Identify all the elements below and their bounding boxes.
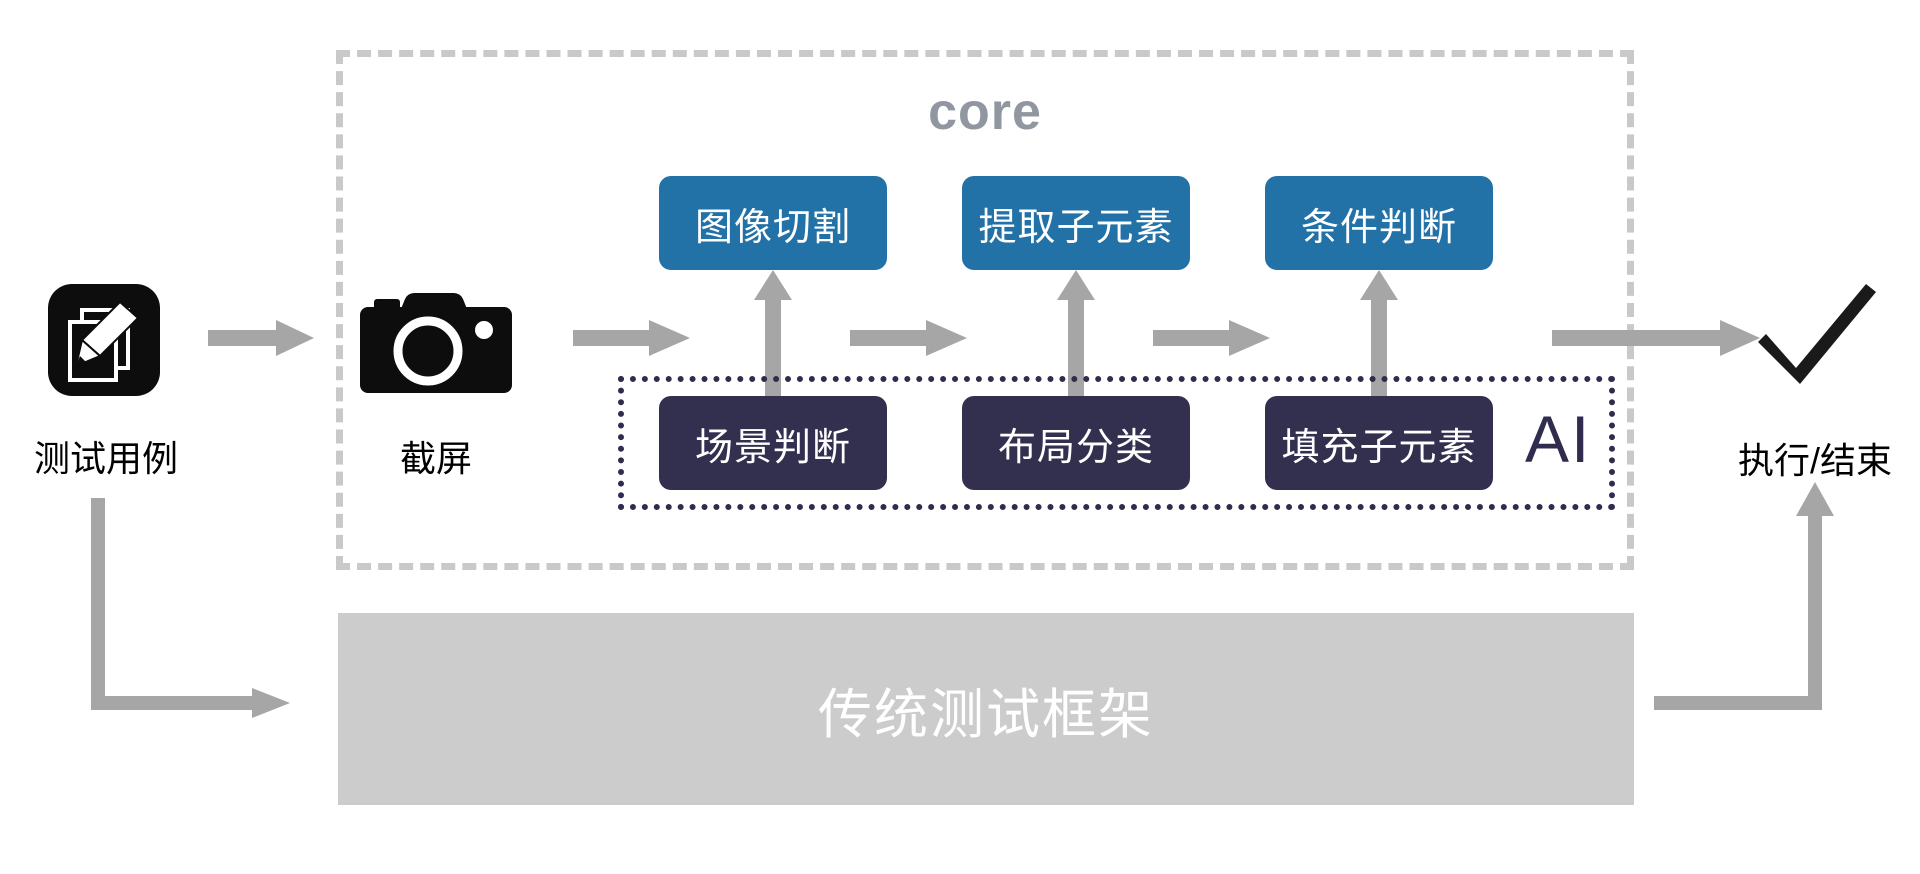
node-label: 条件判断: [1301, 196, 1457, 251]
framework-label: 传统测试框架: [818, 670, 1154, 749]
node-layout-classification[interactable]: 布局分类: [962, 396, 1190, 490]
arrow-framework-to-end: [1654, 482, 1834, 710]
traditional-framework-bar: 传统测试框架: [338, 613, 1634, 805]
document-pencil-icon: [48, 284, 160, 396]
node-label: 布局分类: [998, 416, 1154, 471]
node-image-segmentation[interactable]: 图像切割: [659, 176, 887, 270]
diagram-canvas: core: [0, 0, 1920, 874]
ai-label: AI: [1525, 401, 1591, 477]
node-scene-judgement[interactable]: 场景判断: [659, 396, 887, 490]
label-execute-end: 执行/结束: [1700, 432, 1920, 484]
node-label: 图像切割: [695, 196, 851, 251]
node-label: 提取子元素: [978, 196, 1173, 251]
node-condition-judgement[interactable]: 条件判断: [1265, 176, 1493, 270]
core-title: core: [336, 82, 1634, 142]
arrow-testcase-to-camera: [208, 320, 314, 356]
label-screenshot: 截屏: [330, 430, 542, 482]
label-test-case: 测试用例: [0, 430, 212, 482]
camera-icon: [358, 285, 514, 397]
node-label: 场景判断: [695, 416, 851, 471]
checkmark-icon: [1750, 280, 1882, 392]
node-extract-subelement[interactable]: 提取子元素: [962, 176, 1190, 270]
node-fill-subelement[interactable]: 填充子元素: [1265, 396, 1493, 490]
arrow-testcase-to-framework: [91, 498, 290, 718]
node-label: 填充子元素: [1281, 416, 1476, 471]
